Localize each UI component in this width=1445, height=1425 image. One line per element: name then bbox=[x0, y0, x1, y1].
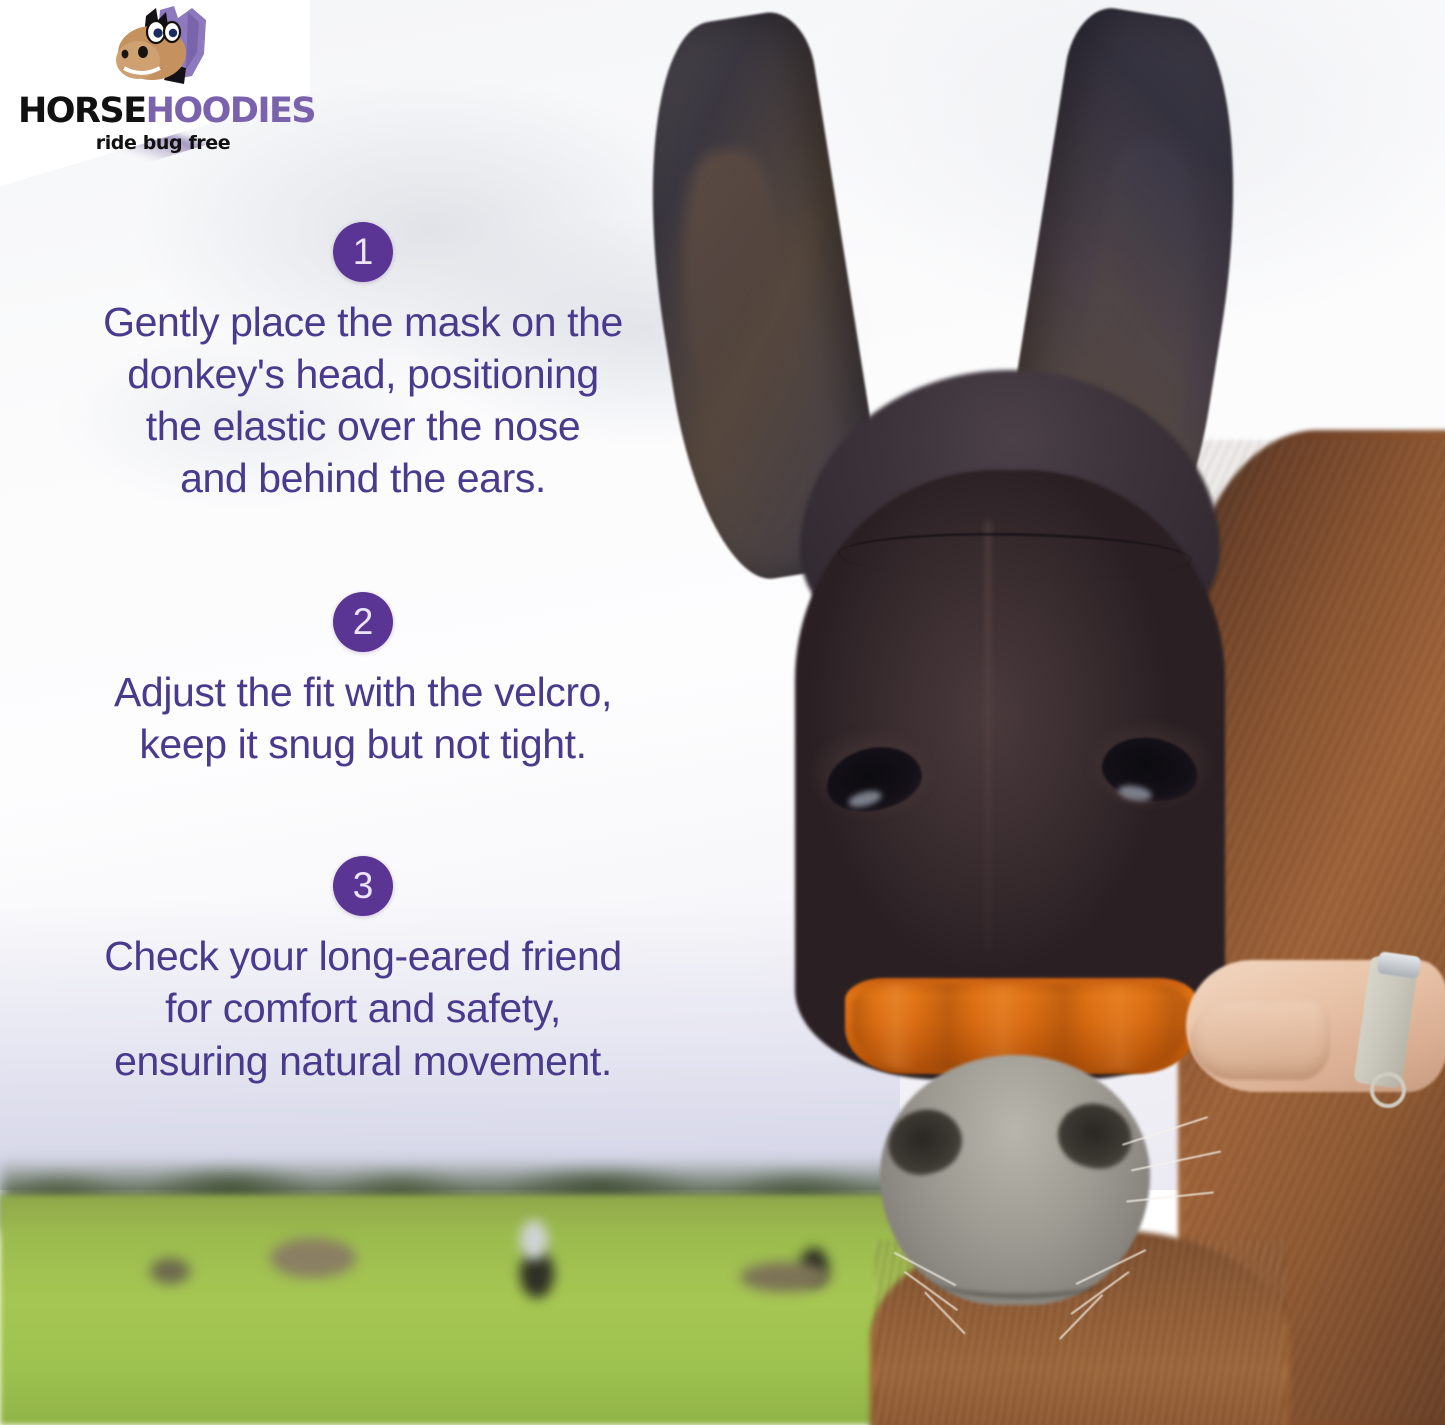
face-crease bbox=[985, 520, 991, 950]
step-badge-3: 3 bbox=[333, 856, 393, 916]
logo-word-horse: HORSE bbox=[18, 91, 146, 131]
step-badge-2: 2 bbox=[333, 592, 393, 652]
instruction-steps: 1 Gently place the mask on the donkey's … bbox=[38, 222, 688, 1087]
logo-tagline: ride bug free bbox=[18, 132, 308, 154]
step-item-2: 2 Adjust the fit with the velcro, keep i… bbox=[38, 592, 688, 770]
brand-logo[interactable]: HORSEHOODIES ride bug free bbox=[18, 6, 308, 166]
logo-wordmark: HORSEHOODIES bbox=[18, 94, 308, 129]
logo-word-hoodies: HOODIES bbox=[146, 91, 316, 131]
step-item-1: 1 Gently place the mask on the donkey's … bbox=[38, 222, 688, 504]
step-badge-1: 1 bbox=[333, 222, 393, 282]
step-text-1: Gently place the mask on the donkey's he… bbox=[53, 296, 673, 504]
step-text-2: Adjust the fit with the velcro, keep it … bbox=[53, 666, 673, 770]
hand-fingers bbox=[1190, 1000, 1330, 1080]
promo-infographic: HORSEHOODIES ride bug free 1 Gently plac… bbox=[0, 0, 1445, 1425]
donkey-in-purple-hood-icon bbox=[100, 6, 218, 102]
step-item-3: 3 Check your long-eared friend for comfo… bbox=[38, 856, 688, 1086]
wristwatch-keeper-ring bbox=[1370, 1072, 1406, 1108]
step-text-3: Check your long-eared friend for comfort… bbox=[53, 930, 673, 1086]
mouth-line bbox=[930, 1258, 1110, 1298]
